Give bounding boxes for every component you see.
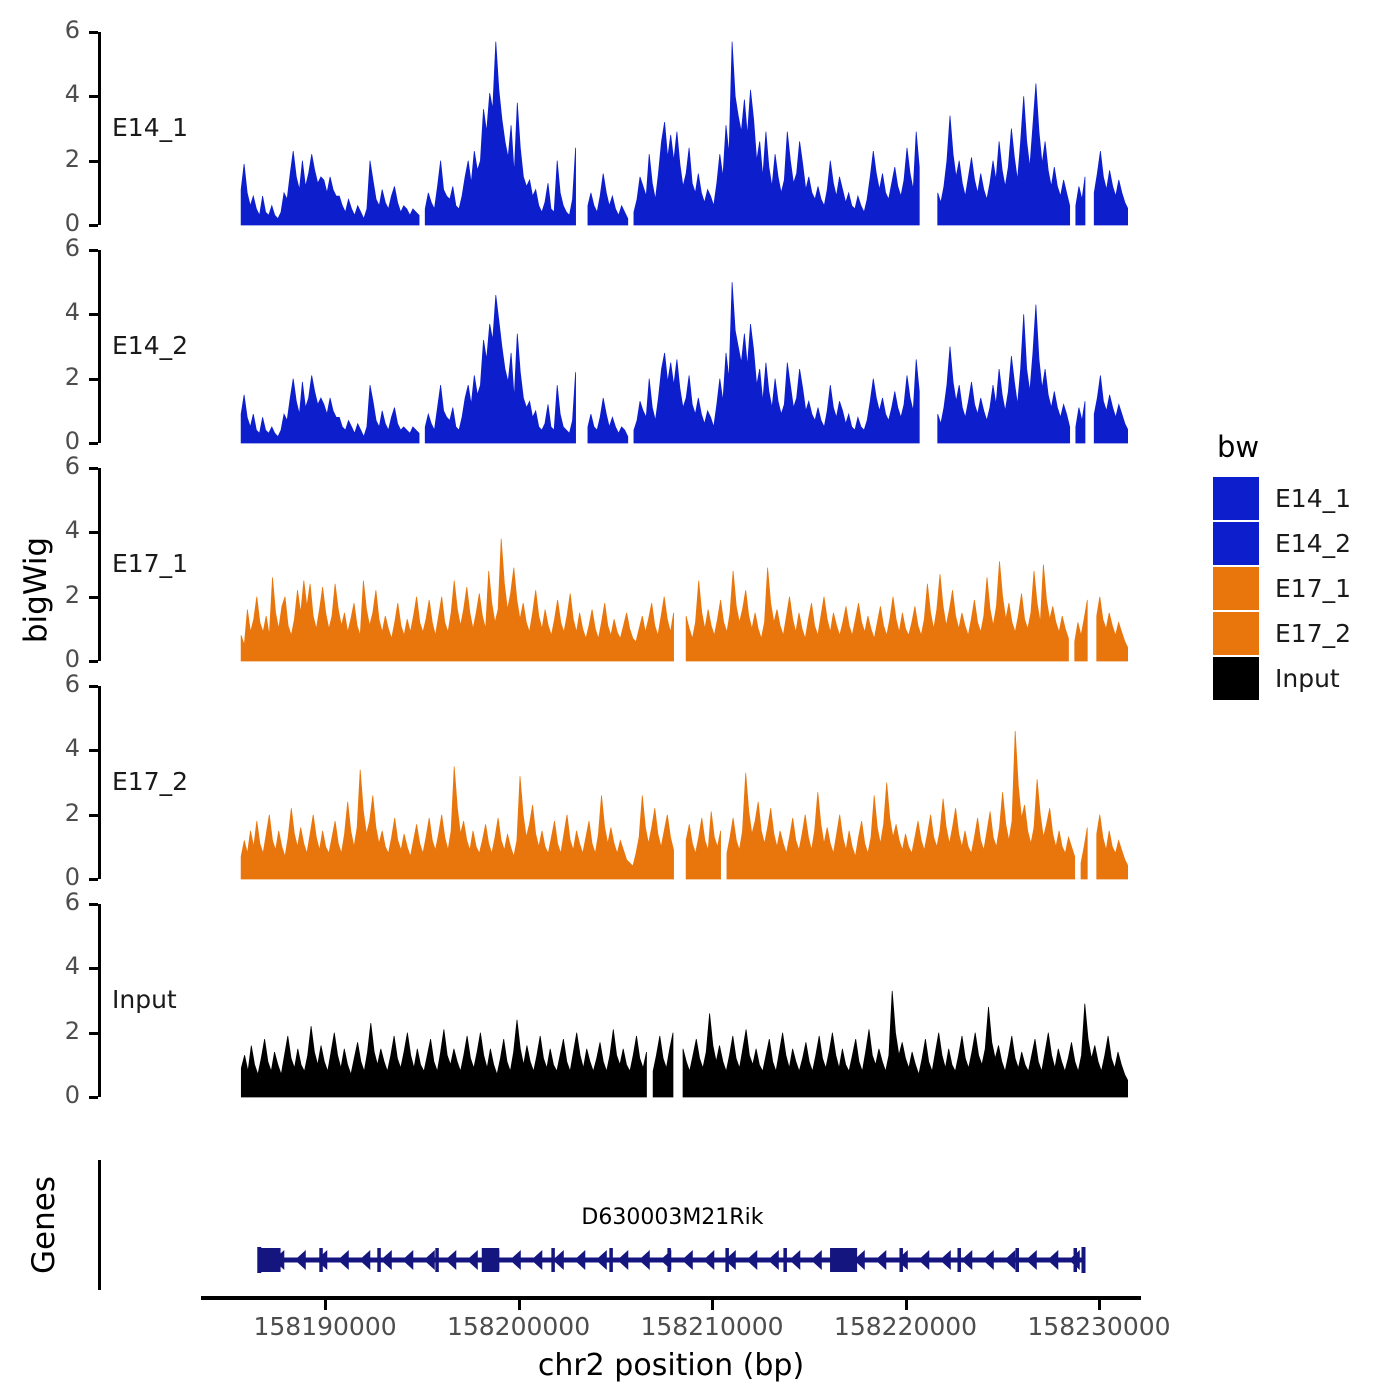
x-tick-label: 158220000	[834, 1312, 977, 1341]
y-tick-label: 0	[40, 863, 80, 891]
y-tick-label: 6	[40, 452, 80, 480]
legend-label: E17_1	[1275, 574, 1351, 603]
y-tick	[89, 749, 98, 752]
y-tick-label: 4	[40, 952, 80, 980]
legend-title: bw	[1217, 430, 1351, 464]
legend-swatch	[1213, 567, 1259, 610]
y-tick	[89, 378, 98, 381]
y-axis-line	[98, 468, 101, 661]
y-tick-label: 4	[40, 298, 80, 326]
legend-item-e14_2[interactable]: E14_2	[1213, 521, 1351, 566]
y-tick	[89, 685, 98, 688]
y-tick	[89, 467, 98, 470]
y-axis-line	[98, 32, 101, 225]
y-tick-label: 4	[40, 516, 80, 544]
y-tick-label: 6	[40, 670, 80, 698]
y-tick	[89, 224, 98, 227]
y-tick-label: 2	[40, 581, 80, 609]
y-tick-label: 0	[40, 427, 80, 455]
signal-area	[238, 904, 1128, 1099]
y-tick-label: 2	[40, 799, 80, 827]
x-tick-label: 158230000	[1027, 1312, 1170, 1341]
y-tick	[89, 967, 98, 970]
y-tick	[89, 1032, 98, 1035]
signal-area	[238, 32, 1128, 227]
y-tick	[89, 160, 98, 163]
x-axis-title: chr2 position (bp)	[201, 1348, 1141, 1383]
legend-items: E14_1E14_2E17_1E17_2Input	[1213, 476, 1351, 701]
y-tick	[89, 596, 98, 599]
x-tick-label: 158210000	[640, 1312, 783, 1341]
x-tick	[518, 1300, 521, 1310]
y-axis-line	[98, 686, 101, 879]
y-tick	[89, 31, 98, 34]
x-tick	[1098, 1300, 1101, 1310]
y-tick-label: 0	[40, 209, 80, 237]
legend-label: E14_1	[1275, 484, 1351, 513]
legend-label: E17_2	[1275, 619, 1351, 648]
legend-item-e17_2[interactable]: E17_2	[1213, 611, 1351, 656]
panel-label: Input	[112, 985, 177, 1014]
legend-swatch	[1213, 477, 1259, 520]
x-axis-line	[201, 1296, 1141, 1300]
x-tick	[711, 1300, 714, 1310]
legend-item-input[interactable]: Input	[1213, 656, 1351, 701]
y-tick	[89, 814, 98, 817]
y-tick	[89, 878, 98, 881]
y-tick-label: 6	[40, 888, 80, 916]
y-tick	[89, 531, 98, 534]
y-tick-label: 2	[40, 363, 80, 391]
y-tick-label: 2	[40, 1017, 80, 1045]
x-tick-label: 158190000	[253, 1312, 396, 1341]
y-axis-line	[98, 250, 101, 443]
gene-model	[0, 1235, 1160, 1295]
gene-name-label: D630003M21Rik	[581, 1205, 763, 1230]
panel-label: E17_1	[112, 549, 188, 578]
y-tick	[89, 1096, 98, 1099]
y-axis-line	[98, 904, 101, 1097]
panel-label: E17_2	[112, 767, 188, 796]
y-tick	[89, 95, 98, 98]
y-tick-label: 4	[40, 734, 80, 762]
y-tick-label: 6	[40, 16, 80, 44]
legend-swatch	[1213, 612, 1259, 655]
y-tick	[89, 249, 98, 252]
legend-swatch	[1213, 522, 1259, 565]
signal-area	[238, 468, 1128, 663]
legend-item-e14_1[interactable]: E14_1	[1213, 476, 1351, 521]
panel-label: E14_2	[112, 331, 188, 360]
x-tick	[905, 1300, 908, 1310]
legend-label: Input	[1275, 664, 1340, 693]
genome-browser-figure: bigWig Genes 0246E14_10246E14_20246E17_1…	[0, 0, 1400, 1400]
legend: bw E14_1E14_2E17_1E17_2Input	[1213, 430, 1351, 701]
y-tick-label: 2	[40, 145, 80, 173]
legend-swatch	[1213, 657, 1259, 700]
x-tick	[324, 1300, 327, 1310]
y-tick	[89, 660, 98, 663]
y-tick	[89, 313, 98, 316]
signal-area	[238, 686, 1128, 881]
y-tick-label: 0	[40, 1081, 80, 1109]
legend-item-e17_1[interactable]: E17_1	[1213, 566, 1351, 611]
y-tick-label: 0	[40, 645, 80, 673]
y-tick	[89, 442, 98, 445]
y-tick	[89, 903, 98, 906]
x-tick-label: 158200000	[447, 1312, 590, 1341]
panel-label: E14_1	[112, 113, 188, 142]
y-tick-label: 4	[40, 80, 80, 108]
legend-label: E14_2	[1275, 529, 1351, 558]
signal-area	[238, 250, 1128, 445]
y-tick-label: 6	[40, 234, 80, 262]
